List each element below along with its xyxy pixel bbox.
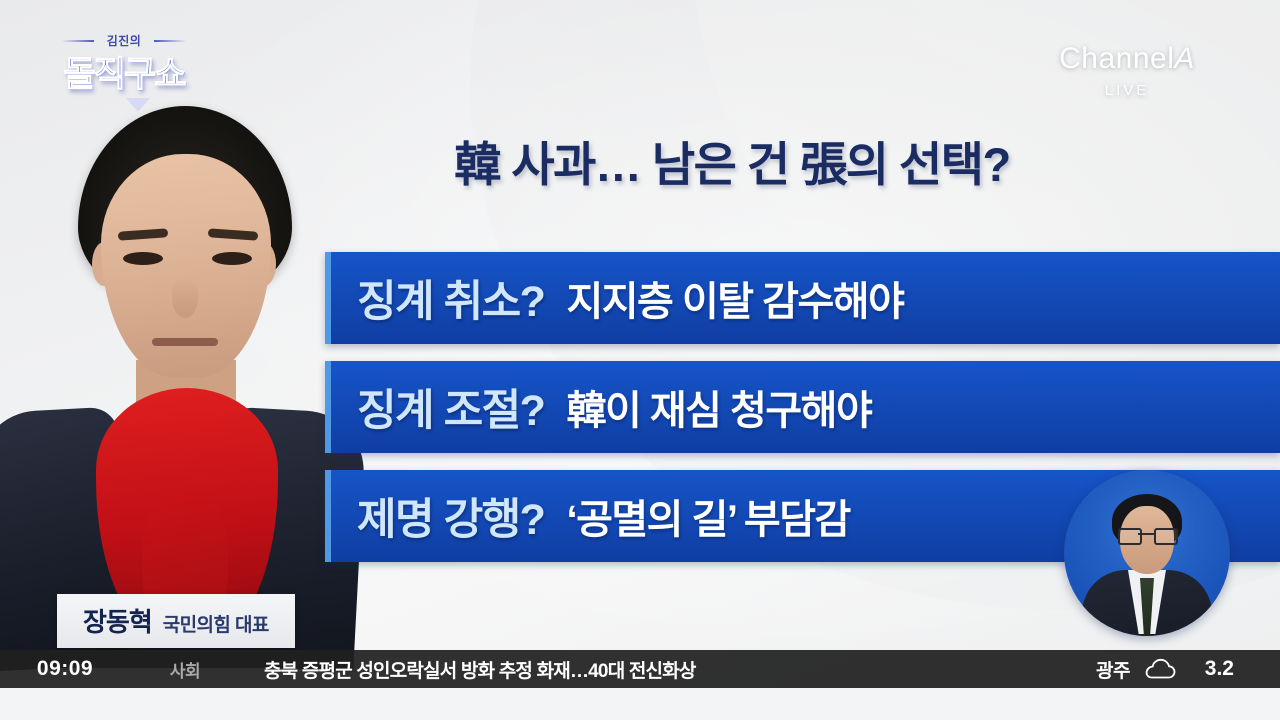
ticker-weather: 광주 3.2 [1096, 656, 1280, 683]
host-mouth [152, 338, 218, 346]
news-ticker: 09:09 사회 충북 증평군 성인오락실서 방화 추정 화재…40대 전신화상… [0, 650, 1280, 688]
bullet-question: 징계 취소? [357, 267, 544, 329]
ticker-category: 사회 [130, 657, 240, 682]
bullet-answer: 韓이 재심 청구해야 [566, 378, 871, 436]
ticker-headline: 충북 증평군 성인오락실서 방화 추정 화재…40대 전신화상 [240, 656, 1096, 683]
program-logo: 김진의 돌직구쇼 [48, 26, 200, 108]
channel-a-mark: A [1174, 42, 1195, 75]
host-portrait [0, 92, 360, 668]
guest-glasses-left [1118, 528, 1142, 545]
cloud-icon [1144, 658, 1178, 680]
guest-glasses-bridge [1138, 533, 1154, 535]
channel-bug: ChannelA LIVE [1022, 42, 1232, 99]
weather-city: 광주 [1096, 656, 1130, 683]
live-indicator: LIVE [1022, 82, 1232, 99]
broadcast-screen: 김진의 돌직구쇼 ChannelA LIVE 韓 사과… 남은 건 張의 선택?… [0, 0, 1280, 720]
channel-brand-name: Channel [1059, 42, 1174, 75]
lower-third-nameplate: 장동혁 국민의힘 대표 [57, 594, 295, 648]
program-logo-title: 돌직구쇼 [48, 46, 200, 97]
bullet-answer: 지지층 이탈 감수해야 [566, 269, 903, 327]
bullet-question: 징계 조절? [357, 376, 544, 438]
bullet-bar: 징계 조절? 韓이 재심 청구해야 [325, 361, 1280, 453]
guest-glasses-right [1154, 528, 1178, 545]
guest-pip-video [1064, 470, 1230, 636]
host-eye-left [123, 252, 163, 265]
bullet-bar: 징계 취소? 지지층 이탈 감수해야 [325, 252, 1280, 344]
program-logo-speech-tail [126, 98, 150, 112]
bullet-answer: ‘공멸의 길’ 부담감 [566, 487, 849, 545]
speaker-name: 장동혁 [83, 602, 152, 639]
ticker-clock: 09:09 [0, 657, 130, 681]
bottom-safe-area [0, 688, 1280, 720]
weather-temperature: 3.2 [1192, 657, 1234, 681]
host-eye-right [212, 252, 252, 265]
channel-brand: ChannelA [1022, 42, 1232, 76]
host-nose [172, 278, 198, 318]
bullet-question: 제명 강행? [357, 485, 544, 547]
headline-title: 韓 사과… 남은 건 張의 선택? [352, 126, 1112, 195]
speaker-title: 국민의힘 대표 [163, 610, 269, 637]
